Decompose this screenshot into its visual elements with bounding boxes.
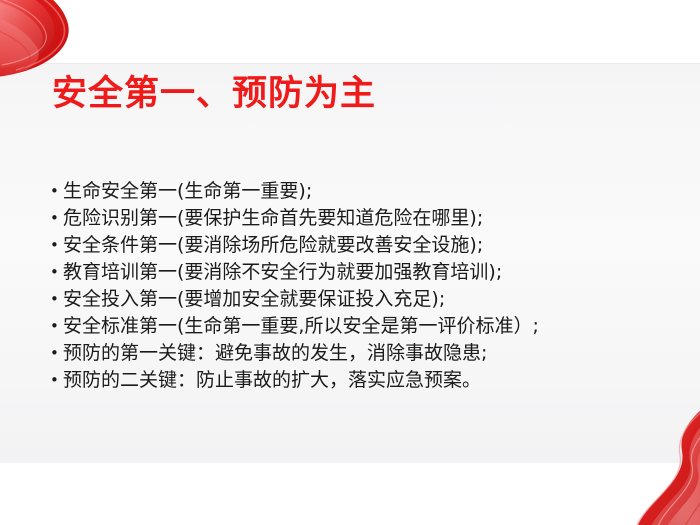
list-item-label: 安全标准第一(生命第一重要,所以安全是第一评价标准）; — [63, 313, 539, 340]
list-item-label: 安全投入第一(要增加安全就要保证投入充足); — [63, 286, 445, 313]
list-item-label: 预防的二关键：防止事故的扩大，落实应急预案。 — [63, 367, 481, 394]
list-item-label: 生命安全第一(生命第一重要); — [63, 178, 312, 205]
list-item-label: 危险识别第一(要保护生命首先要知道危险在哪里); — [63, 205, 483, 232]
list-item: • 教育培训第一(要消除不安全行为就要加强教育培训); — [50, 259, 650, 286]
list-item-label: 安全条件第一(要消除场所危险就要改善安全设施); — [63, 232, 483, 259]
presentation-slide: 安全第一、预防为主 • 生命安全第一(生命第一重要); • 危险识别第一(要保护… — [0, 0, 700, 525]
list-item: • 危险识别第一(要保护生命首先要知道危险在哪里); — [50, 205, 650, 232]
bullet-marker-icon: • — [50, 313, 63, 340]
page-title: 安全第一、预防为主 — [52, 72, 376, 116]
bullet-marker-icon: • — [50, 286, 63, 313]
list-item: • 安全投入第一(要增加安全就要保证投入充足); — [50, 286, 650, 313]
list-item: • 安全条件第一(要消除场所危险就要改善安全设施); — [50, 232, 650, 259]
list-item: • 预防的二关键：防止事故的扩大，落实应急预案。 — [50, 367, 650, 394]
list-item-label: 教育培训第一(要消除不安全行为就要加强教育培训); — [63, 259, 502, 286]
list-item-label: 预防的第一关键：避免事故的发生，消除事故隐患; — [63, 340, 487, 367]
list-item: • 安全标准第一(生命第一重要,所以安全是第一评价标准）; — [50, 313, 650, 340]
list-item: • 预防的第一关键：避免事故的发生，消除事故隐患; — [50, 340, 650, 367]
bullet-marker-icon: • — [50, 340, 63, 367]
bullet-marker-icon: • — [50, 367, 63, 394]
bullet-marker-icon: • — [50, 259, 63, 286]
bullet-marker-icon: • — [50, 232, 63, 259]
bullet-marker-icon: • — [50, 178, 63, 205]
bullet-marker-icon: • — [50, 205, 63, 232]
list-item: • 生命安全第一(生命第一重要); — [50, 178, 650, 205]
bullet-list: • 生命安全第一(生命第一重要); • 危险识别第一(要保护生命首先要知道危险在… — [50, 178, 650, 394]
